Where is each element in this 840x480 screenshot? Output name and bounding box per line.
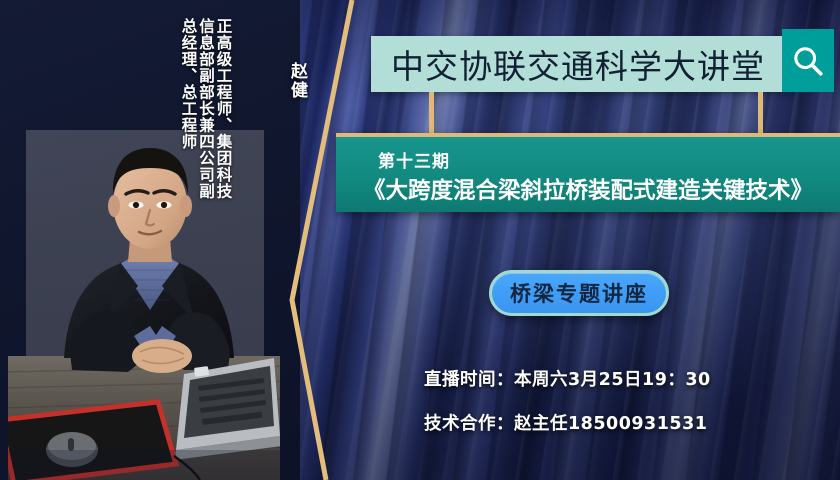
speaker-portrait	[8, 120, 280, 480]
main-title-banner: 中交协联交通科学大讲堂	[371, 36, 794, 92]
episode-topic: 《大跨度混合梁斜拉桥装配式建造关键技术》	[342, 173, 834, 205]
speaker-title-line-2: 信息部副部长兼四公司副	[198, 18, 214, 200]
speaker-title-vertical: 正高级工程师、集团科技 信息部副部长兼四公司副 总经理、总工程师	[180, 18, 231, 278]
episode-number: 第十三期	[378, 147, 450, 172]
broadcast-time-text: 直播时间：本周六3月25日19：30	[424, 366, 711, 391]
search-icon	[791, 44, 825, 78]
topic-badge-label: 桥梁专题讲座	[510, 278, 648, 308]
gold-hanger-left	[429, 92, 434, 137]
contact-text: 技术合作：赵主任18500931531	[424, 410, 707, 435]
page-title: 中交协联交通科学大讲堂	[371, 40, 765, 88]
subtitle-banner: 第十三期 《大跨度混合梁斜拉桥装配式建造关键技术》	[336, 133, 840, 212]
speaker-title-line-3: 总经理、总工程师	[180, 18, 196, 150]
live-stream-poster: 正高级工程师、集团科技 信息部副部长兼四公司副 总经理、总工程师 赵健 中交协联…	[0, 0, 840, 480]
speaker-title-line-1: 正高级工程师、集团科技	[215, 18, 231, 200]
topic-badge-button[interactable]: 桥梁专题讲座	[489, 270, 669, 316]
gold-hanger-right	[758, 92, 763, 137]
search-icon-box[interactable]	[782, 29, 834, 92]
speaker-name: 赵健	[288, 62, 305, 100]
